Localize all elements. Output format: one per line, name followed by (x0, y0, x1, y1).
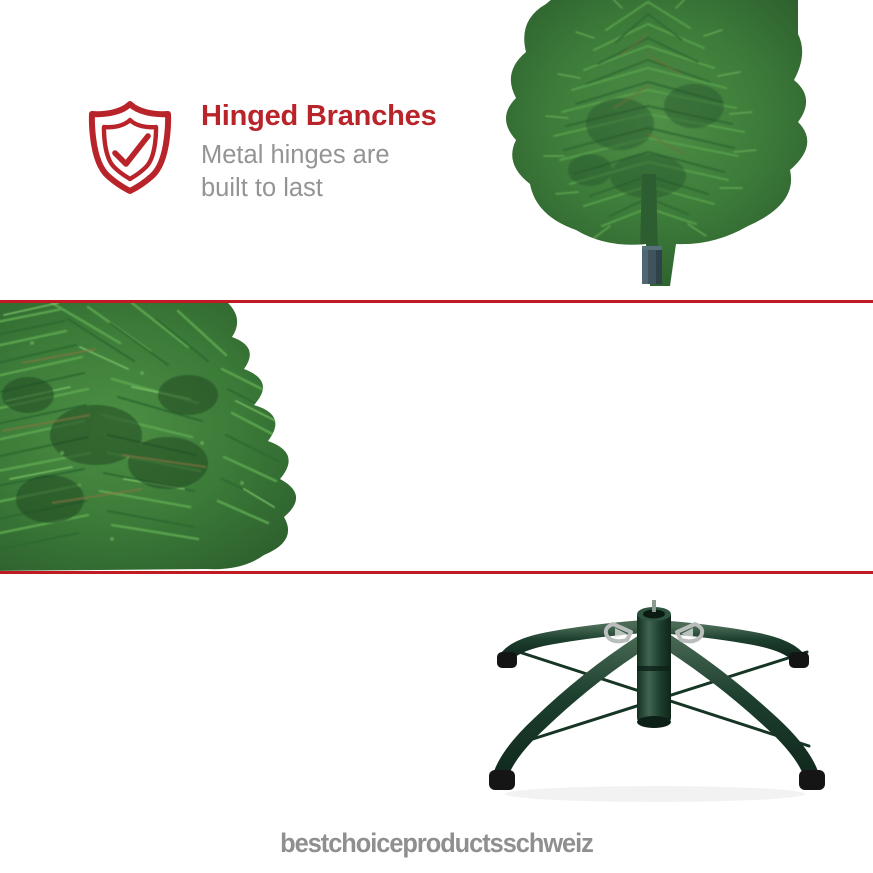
feature-section-pvc-tips: PVC Tips Flame-retardant and easy to flu… (0, 303, 873, 571)
tree-pole-stub (642, 246, 662, 284)
tree-foliage-closeup-photo (0, 303, 337, 571)
feature-section-sturdy-base: Sturdy Base A reliable metal stand for y… (0, 574, 873, 819)
metal-tree-stand-photo (455, 594, 873, 814)
feature-text-hinged-branches: Hinged Branches Metal hinges are built t… (201, 100, 437, 205)
feature-description-line: Metal hinges are (201, 139, 437, 172)
christmas-tree-branch-photo (498, 0, 828, 294)
infographic-page: Hinged Branches Metal hinges are built t… (0, 0, 873, 873)
stand-center-post (637, 600, 671, 728)
footer-watermark: bestchoiceproductsschweiz (26, 828, 847, 859)
feature-title: Hinged Branches (201, 100, 437, 132)
feature-description-line: built to last (201, 172, 437, 205)
feature-section-hinged-branches: Hinged Branches Metal hinges are built t… (0, 0, 873, 300)
feature-description: Metal hinges are built to last (201, 139, 437, 204)
shield-check-icon (82, 98, 178, 196)
